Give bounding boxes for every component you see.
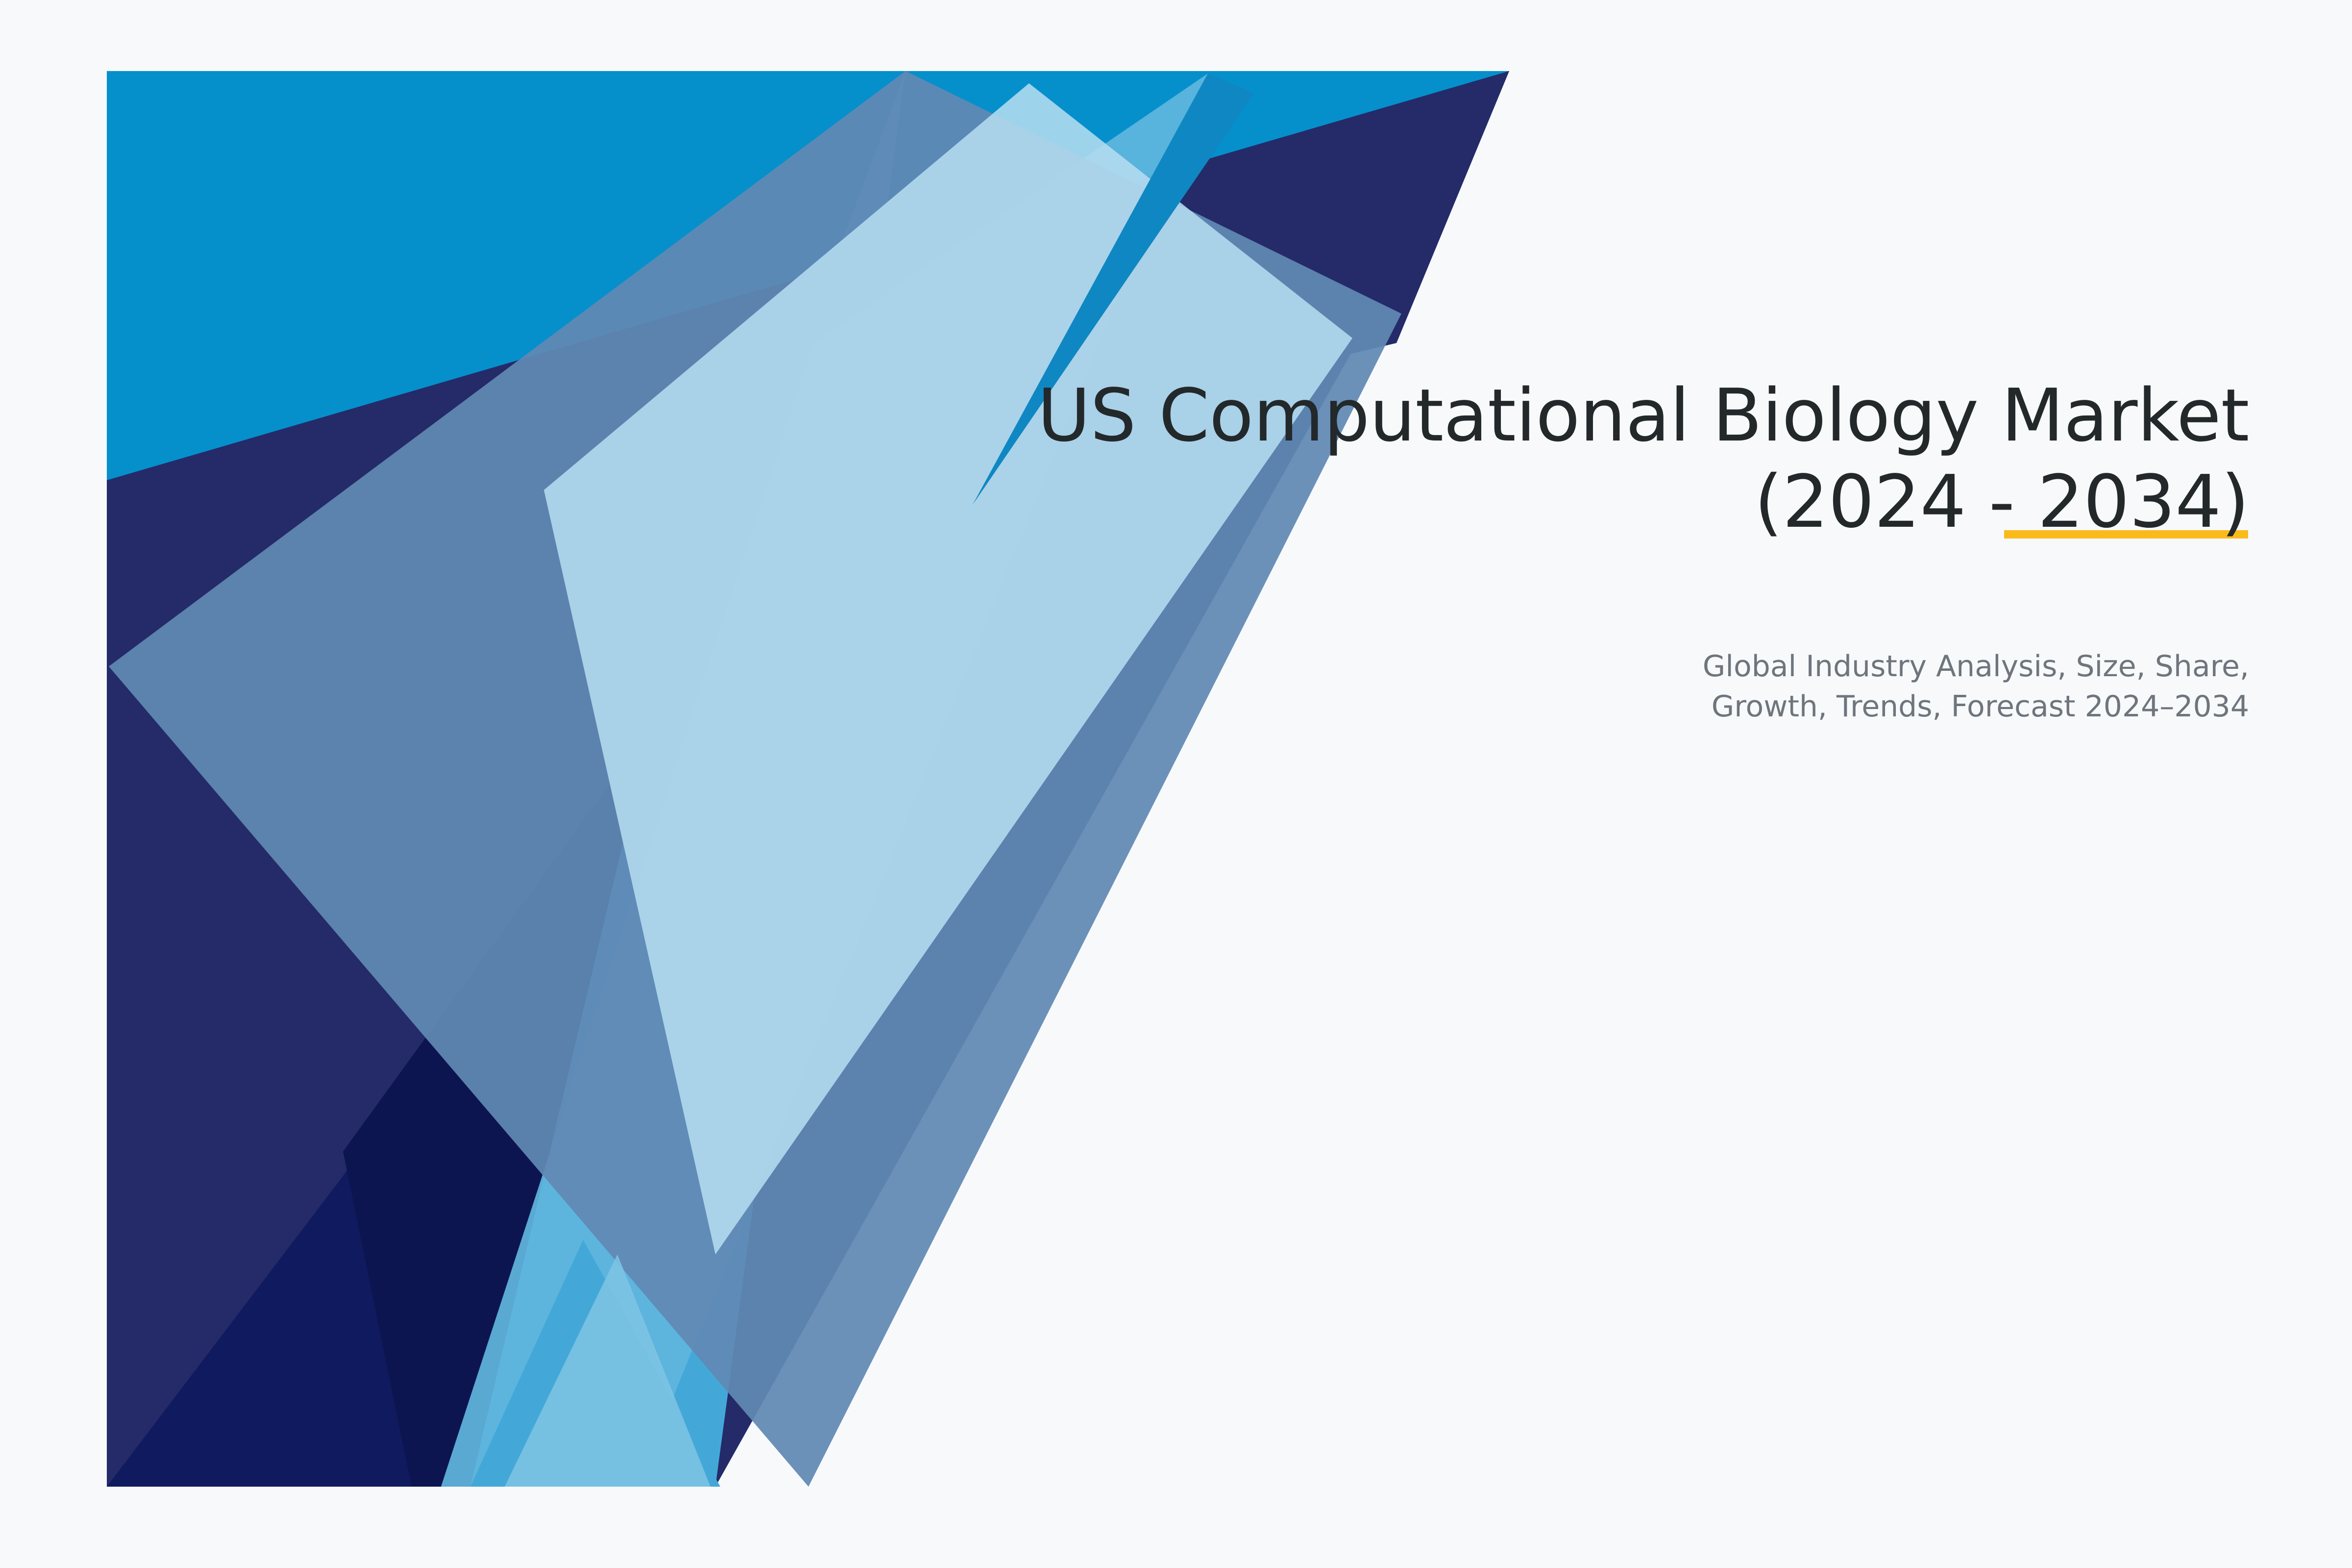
shape-deep-navy-lower [343,652,706,1487]
shape-pale-sky-sheet [544,83,1352,1254]
page-subtitle: Global Industry Analysis, Size, Share, G… [1421,647,2249,727]
shape-deep-navy-wedge [107,652,706,1487]
shape-slate-sheet [109,71,1401,1487]
shape-pale-sliver [505,1254,710,1487]
report-cover: US Computational Biology Market (2024 - … [0,0,2352,1568]
shape-sky-band [470,71,906,1487]
shape-navy-mass [107,71,1509,1487]
shape-navy-sweep [107,71,1509,652]
shape-cyan-field [107,71,1509,1487]
cover-text-block: US Computational Biology Market (2024 - … [931,372,2249,545]
page-title: US Computational Biology Market (2024 - … [931,372,2249,545]
shape-sky-band-light [441,73,1208,1487]
shape-sky-sliver [470,1240,720,1487]
abstract-polygon-artwork [0,0,2352,1568]
